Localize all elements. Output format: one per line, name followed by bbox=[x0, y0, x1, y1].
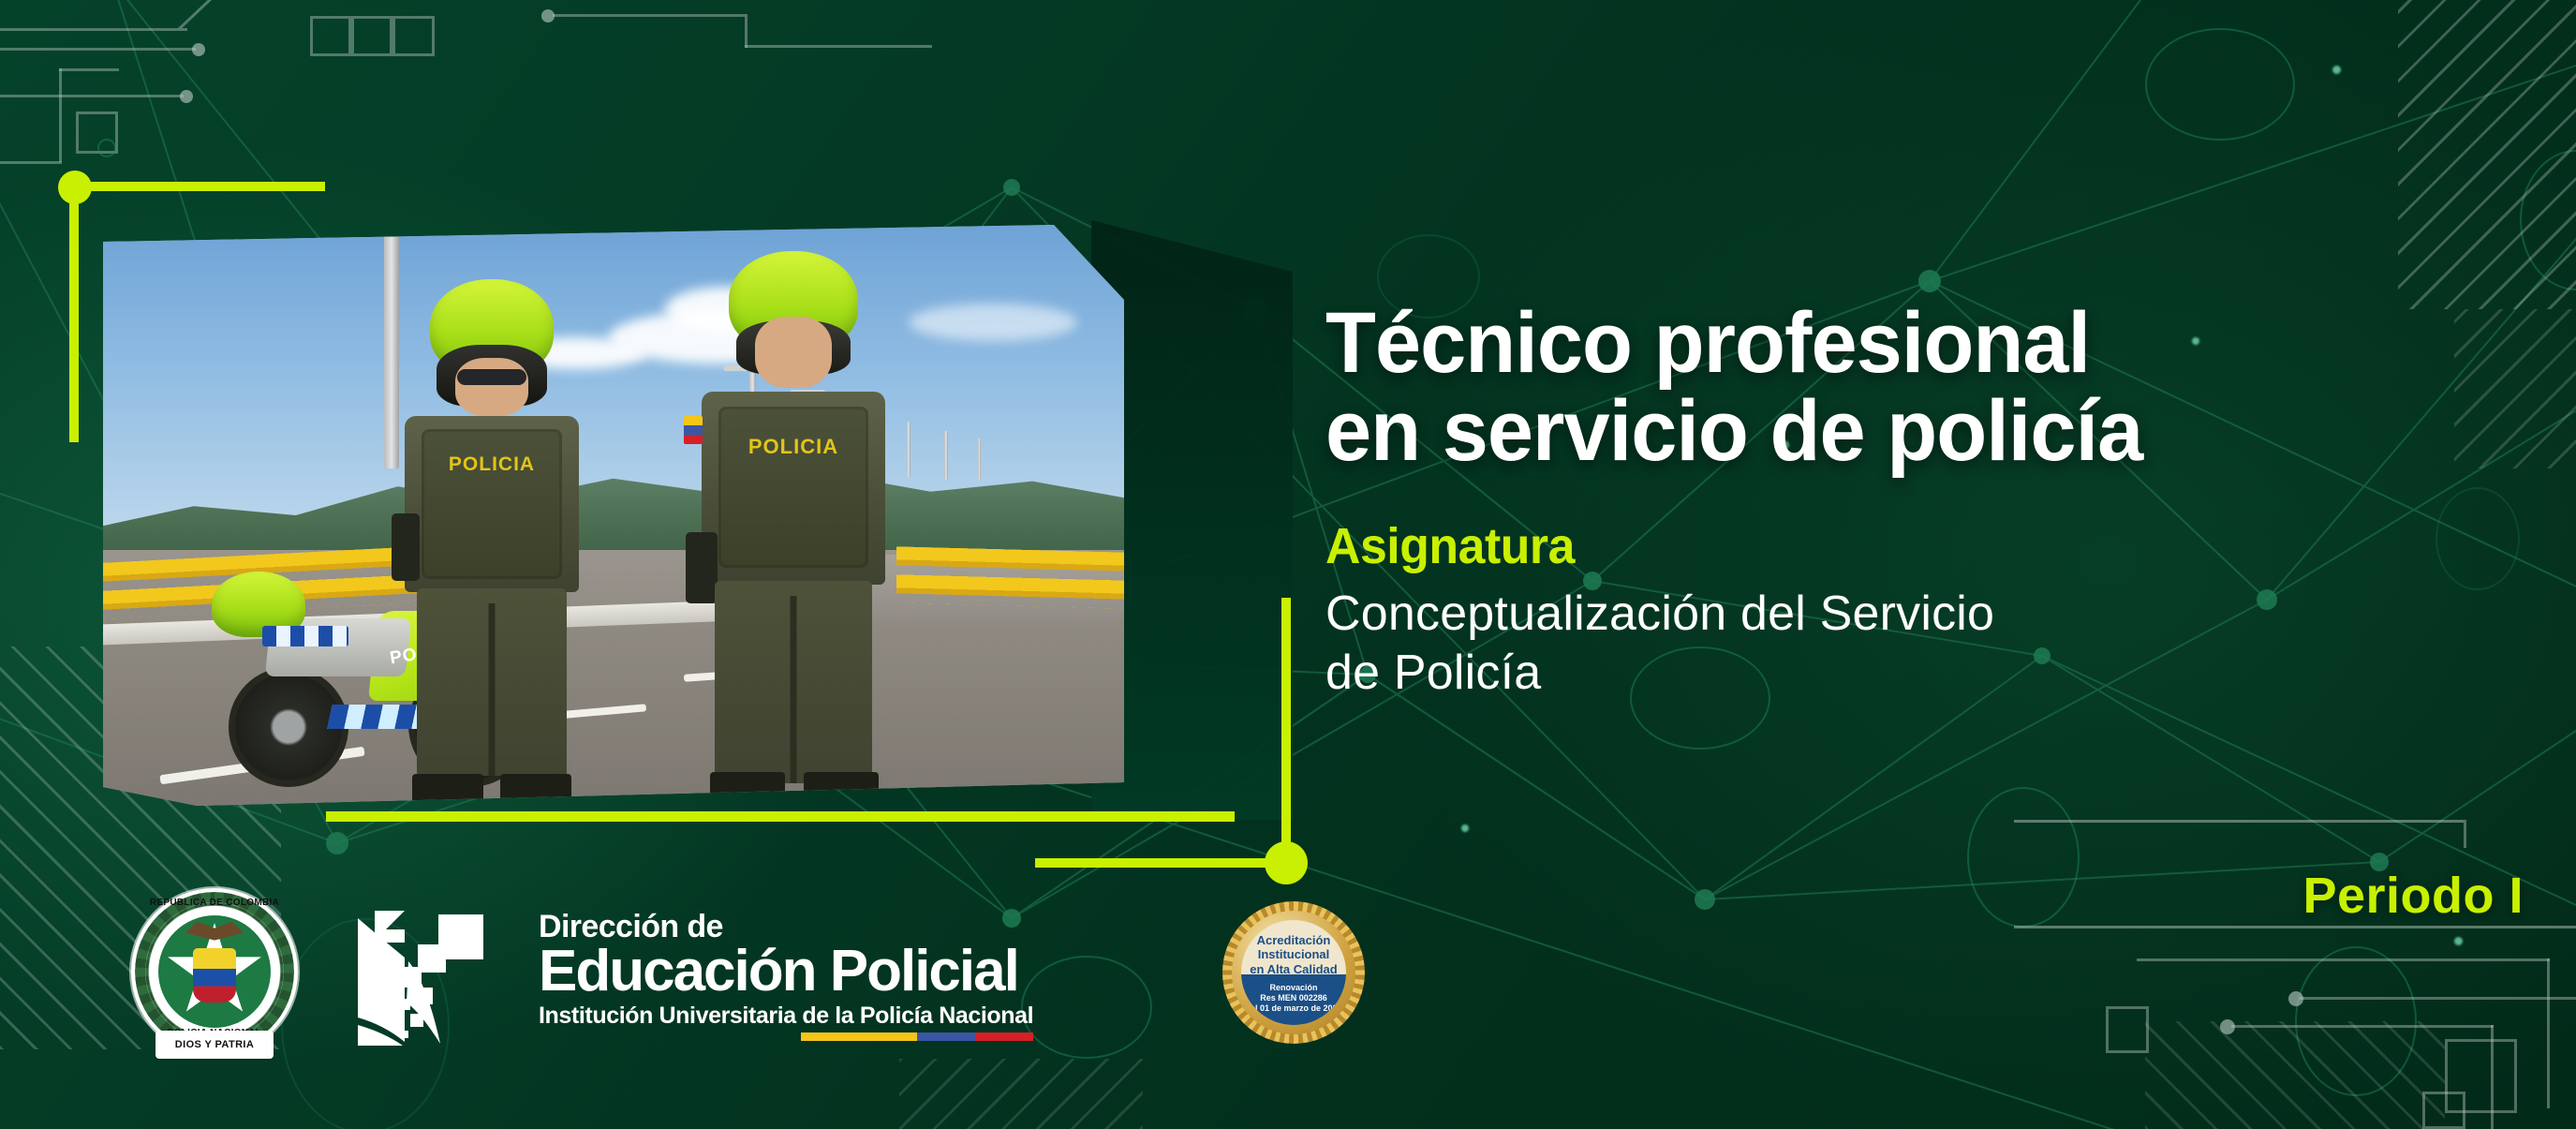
seal-top-line-2: Institucional bbox=[1250, 947, 1337, 961]
dep-line-3-text: Institución Universitaria de la Policía … bbox=[539, 1003, 1033, 1029]
logo-bar: REPUBLICA DE COLOMBIA POLICIA NACIONAL D… bbox=[0, 871, 1405, 1087]
text-column: Técnico profesional en servicio de polic… bbox=[1325, 300, 2534, 704]
accreditation-seal-icon: Acreditación Institucional en Alta Calid… bbox=[1222, 901, 1365, 1044]
course-banner: POLICIA POLICIA bbox=[0, 0, 2576, 1129]
shield-scroll-text: DIOS Y PATRIA bbox=[155, 1031, 274, 1059]
title-line-1: Técnico profesional bbox=[1325, 300, 2485, 388]
subject-value-line-2: de Policía bbox=[1325, 644, 2534, 703]
lime-line-bottom-right bbox=[1035, 858, 1269, 868]
hatch-lines bbox=[2145, 1021, 2445, 1129]
seal-bottom-line-1: Renovación bbox=[1245, 983, 1341, 993]
glow-ring bbox=[2520, 150, 2576, 290]
lime-dot bbox=[58, 171, 92, 204]
vest-label: POLICIA bbox=[449, 453, 535, 476]
title-line-2: en servicio de policía bbox=[1325, 388, 2485, 476]
vest-label: POLICIA bbox=[748, 435, 838, 459]
subject-value-line-1: Conceptualización del Servicio bbox=[1325, 585, 2534, 644]
lime-line-top bbox=[91, 182, 325, 191]
seal-bottom-line-2: Res MEN 002286 bbox=[1245, 993, 1341, 1003]
glow-ring bbox=[2295, 946, 2417, 1096]
education-wordmark: Dirección de Educación Policial Instituc… bbox=[539, 909, 1033, 1030]
lime-line-left bbox=[69, 199, 79, 442]
seal-top-line-3: en Alta Calidad bbox=[1250, 962, 1337, 976]
book-icon bbox=[347, 905, 487, 1046]
police-shield-icon: REPUBLICA DE COLOMBIA POLICIA NACIONAL D… bbox=[131, 888, 298, 1055]
dep-line-2: Educación Policial bbox=[539, 942, 1033, 1001]
shield-top-text: REPUBLICA DE COLOMBIA bbox=[131, 898, 298, 908]
seal-top-line-1: Acreditación bbox=[1250, 933, 1337, 947]
glow-ring bbox=[2145, 28, 2295, 141]
dep-line-3: Institución Universitaria de la Policía … bbox=[539, 1003, 1033, 1030]
officer-figure: POLICIA bbox=[676, 251, 910, 804]
photo-frame: POLICIA POLICIA bbox=[103, 225, 1236, 806]
subject-label: Asignatura bbox=[1325, 517, 2485, 575]
colombia-flag-icon bbox=[801, 1032, 1033, 1041]
hero-photo: POLICIA POLICIA bbox=[103, 225, 1236, 806]
seal-bottom-line-3: del 01 de marzo de 2022 bbox=[1245, 1003, 1341, 1014]
subject-value: Conceptualización del Servicio de Policí… bbox=[1325, 585, 2534, 704]
hatch-lines bbox=[2398, 0, 2576, 309]
officer-figure: POLICIA bbox=[375, 279, 609, 804]
page-title: Técnico profesional en servicio de polic… bbox=[1325, 300, 2485, 476]
period-label: Periodo I bbox=[2302, 867, 2524, 925]
glow-ring bbox=[1967, 787, 2080, 928]
